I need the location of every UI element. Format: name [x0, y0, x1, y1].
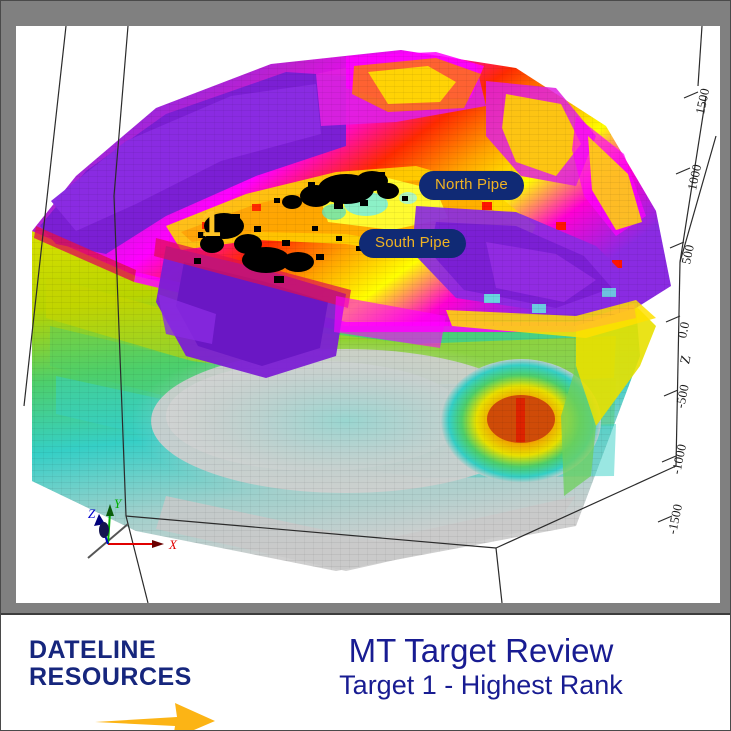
page-subtitle: Target 1 - Highest Rank	[251, 670, 711, 701]
page-title: MT Target Review	[251, 633, 711, 670]
triad-x-label: X	[168, 537, 178, 552]
axis-triad: X Y Z	[74, 496, 194, 586]
logo-line-2: RESOURCES	[29, 664, 249, 691]
triad-y-label: Y	[114, 496, 123, 511]
callout-south-pipe[interactable]: South Pipe	[359, 229, 466, 258]
model-viewport[interactable]: 1 North Pipe South Pipe 1500 1000 500 0.…	[16, 26, 720, 603]
slide: 1 North Pipe South Pipe 1500 1000 500 0.…	[0, 0, 731, 731]
z-tick-0: 0.0	[674, 320, 693, 339]
triad-z-label: Z	[88, 506, 96, 521]
dateline-resources-logo: DATELINE RESOURCES	[29, 637, 249, 690]
callout-north-pipe[interactable]: North Pipe	[419, 171, 524, 200]
slide-footer: DATELINE RESOURCES MT Target Review Targ…	[1, 613, 731, 731]
target-number-marker: 1	[201, 206, 221, 242]
footer-title-block: MT Target Review Target 1 - Highest Rank	[251, 633, 711, 701]
arrow-right-icon	[91, 695, 221, 731]
logo-line-1: DATELINE	[29, 637, 249, 664]
viewport-frame: 1 North Pipe South Pipe 1500 1000 500 0.…	[1, 1, 731, 613]
